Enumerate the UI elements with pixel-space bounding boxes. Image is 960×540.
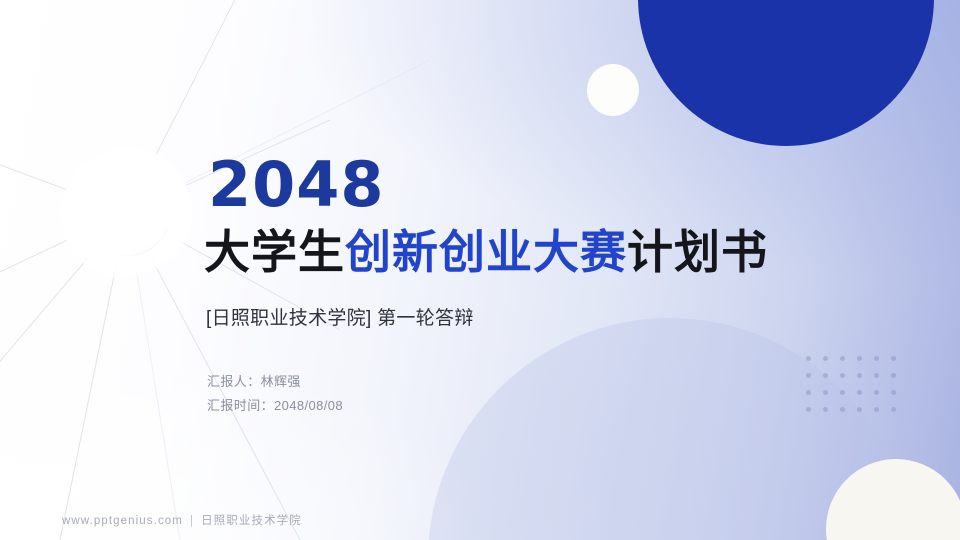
- title-suffix: 计划书: [627, 225, 768, 279]
- main-title: 大学生创新创业大赛计划书: [204, 228, 768, 276]
- subtitle: [日照职业技术学院] 第一轮答辩: [206, 303, 474, 330]
- presenter-meta: 汇报人：林辉强 汇报时间：2048/08/08: [207, 370, 343, 418]
- footer-website[interactable]: www.pptgenius.com: [62, 515, 183, 527]
- presenter-name: 汇报人：林辉强: [207, 370, 343, 394]
- footer-separator: |: [190, 515, 194, 527]
- year-heading: 2048: [208, 154, 385, 216]
- footer-organization: 日照职业技术学院: [201, 512, 302, 528]
- university-logo: 日照职业技术学院 RIZHAO POLYTECHNIC: [75, 160, 179, 264]
- logo-glow: [61, 148, 193, 280]
- title-highlight: 创新创业大赛: [345, 225, 627, 279]
- title-prefix: 大学生: [204, 225, 345, 279]
- dot-grid-decoration: [806, 356, 908, 424]
- white-dot-decoration: [587, 64, 639, 116]
- presentation-date: 汇报时间：2048/08/08: [207, 394, 343, 418]
- footer: www.pptgenius.com|日照职业技术学院: [62, 512, 302, 528]
- presentation-cover-slide: 日照职业技术学院 RIZHAO POLYTECHNIC 2048 大学生创新创业…: [0, 0, 960, 540]
